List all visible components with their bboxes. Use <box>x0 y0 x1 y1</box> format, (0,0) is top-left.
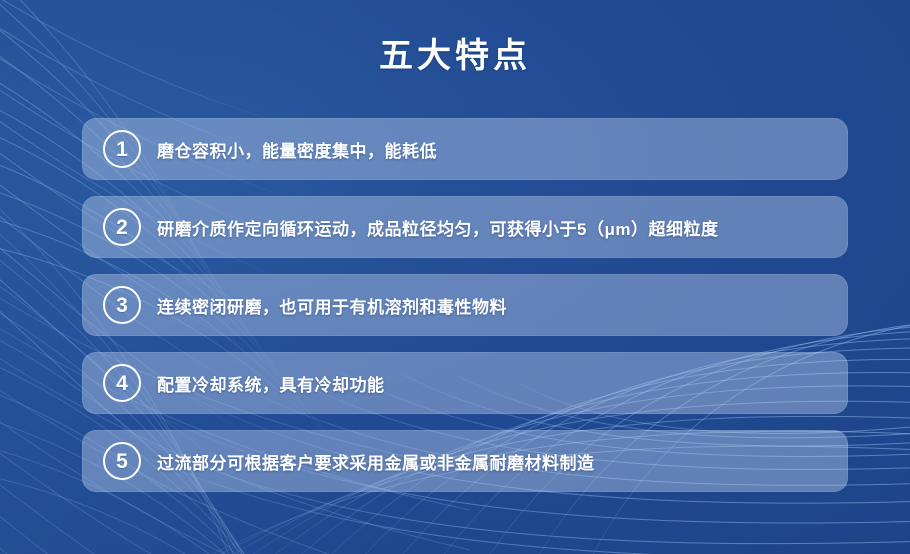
feature-text-5: 过流部分可根据客户要求采用金属或非金属耐磨材料制造 <box>157 449 595 474</box>
feature-number-badge-2: 2 <box>103 208 141 246</box>
feature-number-badge-3: 3 <box>103 286 141 324</box>
feature-item-4[interactable]: 4 配置冷却系统，具有冷却功能 <box>82 352 848 414</box>
feature-text-4: 配置冷却系统，具有冷却功能 <box>157 371 385 396</box>
feature-text-1: 磨仓容积小，能量密度集中，能耗低 <box>157 137 437 162</box>
feature-number-badge-5: 5 <box>103 442 141 480</box>
feature-item-3[interactable]: 3 连续密闭研磨，也可用于有机溶剂和毒性物料 <box>82 274 848 336</box>
feature-list: 1 磨仓容积小，能量密度集中，能耗低 2 研磨介质作定向循环运动，成品粒径均匀，… <box>82 118 848 492</box>
feature-number-badge-4: 4 <box>103 364 141 402</box>
feature-text-2: 研磨介质作定向循环运动，成品粒径均匀，可获得小于5（μm）超细粒度 <box>157 215 718 240</box>
feature-number-badge-1: 1 <box>103 130 141 168</box>
feature-item-5[interactable]: 5 过流部分可根据客户要求采用金属或非金属耐磨材料制造 <box>82 430 848 492</box>
feature-item-1[interactable]: 1 磨仓容积小，能量密度集中，能耗低 <box>82 118 848 180</box>
feature-text-3: 连续密闭研磨，也可用于有机溶剂和毒性物料 <box>157 293 507 318</box>
page-title: 五大特点 <box>0 36 910 77</box>
feature-poster: 五大特点 1 磨仓容积小，能量密度集中，能耗低 2 研磨介质作定向循环运动，成品… <box>0 0 910 554</box>
feature-item-2[interactable]: 2 研磨介质作定向循环运动，成品粒径均匀，可获得小于5（μm）超细粒度 <box>82 196 848 258</box>
